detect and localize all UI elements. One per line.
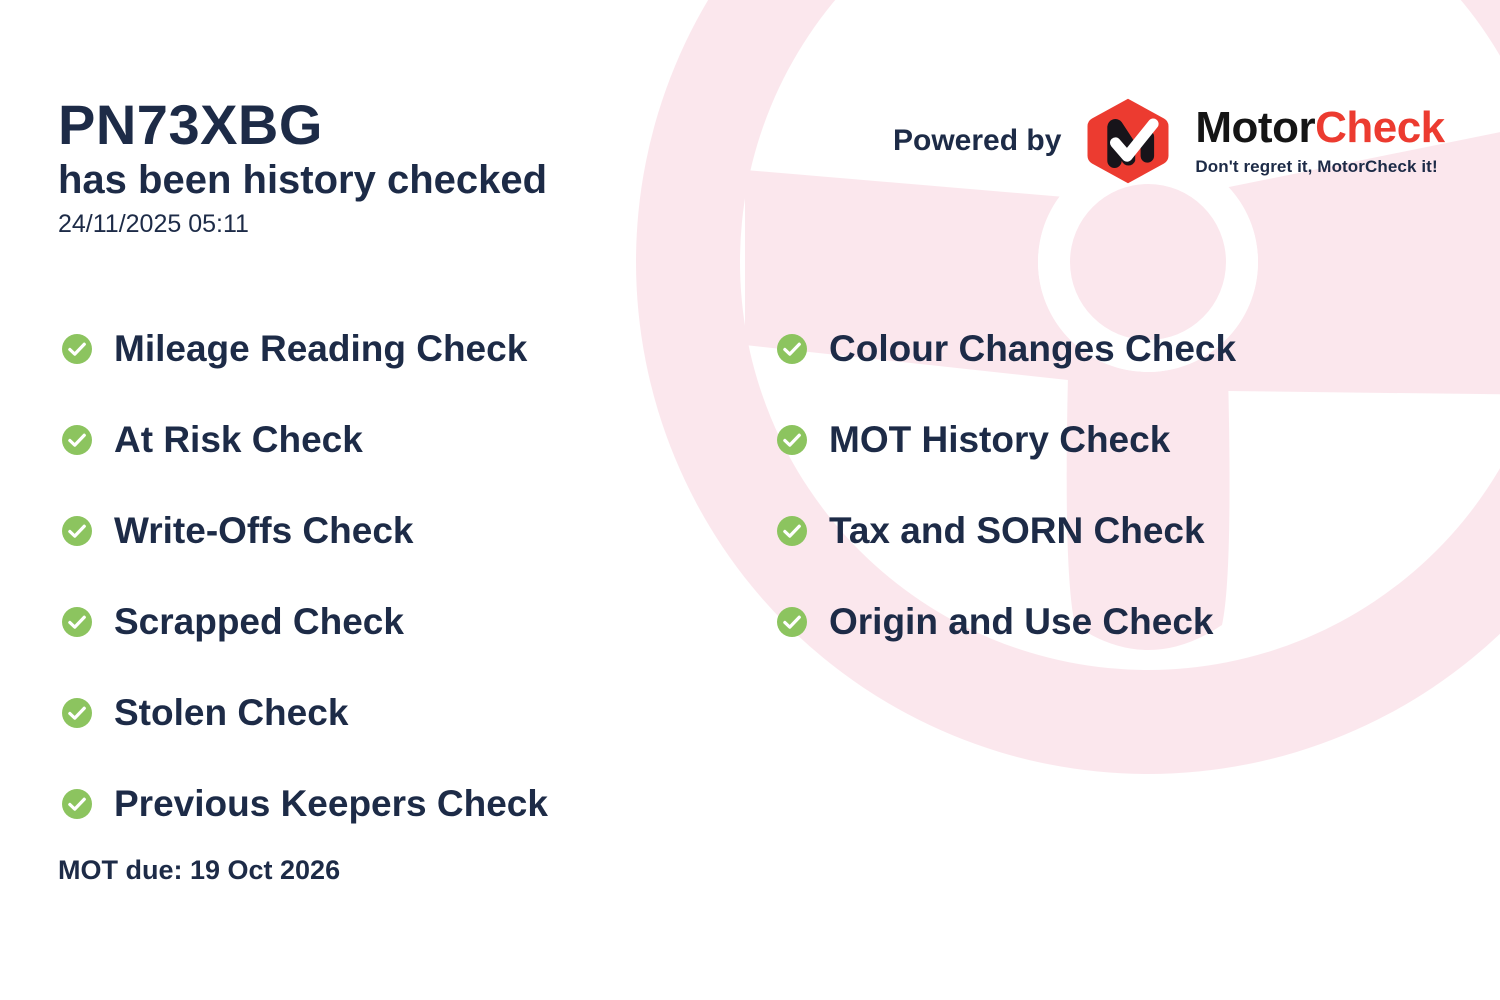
check-label: Mileage Reading Check	[114, 330, 527, 367]
check-list-item: Mileage Reading Check	[62, 303, 548, 394]
check-list-item: Tax and SORN Check	[777, 485, 1236, 576]
powered-by-motorcheck-lockup: Powered by MotorCheck Don't regret it, M…	[893, 96, 1445, 186]
green-check-circle-icon	[62, 789, 92, 819]
check-list-item: At Risk Check	[62, 394, 548, 485]
green-check-circle-icon	[62, 516, 92, 546]
check-label: Colour Changes Check	[829, 330, 1236, 367]
check-list-item: Colour Changes Check	[777, 303, 1236, 394]
green-check-circle-icon	[777, 516, 807, 546]
check-label: Tax and SORN Check	[829, 512, 1205, 549]
history-check-summary-card: PN73XBG has been history checked 24/11/2…	[0, 0, 1500, 1000]
motorcheck-hexagon-logo-icon	[1083, 96, 1173, 186]
green-check-circle-icon	[62, 425, 92, 455]
checks-right-column: Colour Changes Check MOT History Check T…	[777, 303, 1236, 667]
motorcheck-wordmark-block: MotorCheck Don't regret it, MotorCheck i…	[1195, 106, 1444, 177]
motorcheck-wordmark: MotorCheck	[1195, 106, 1444, 150]
check-label: Write-Offs Check	[114, 512, 414, 549]
powered-by-label: Powered by	[893, 124, 1061, 158]
check-label: Stolen Check	[114, 694, 348, 731]
brand-tagline: Don't regret it, MotorCheck it!	[1195, 157, 1444, 177]
green-check-circle-icon	[777, 334, 807, 364]
check-list-item: Stolen Check	[62, 667, 548, 758]
green-check-circle-icon	[62, 698, 92, 728]
check-label: MOT History Check	[829, 421, 1170, 458]
green-check-circle-icon	[62, 334, 92, 364]
check-label: At Risk Check	[114, 421, 363, 458]
check-label: Scrapped Check	[114, 603, 404, 640]
mot-due-note: MOT due: 19 Oct 2026	[58, 855, 340, 886]
checks-left-column: Mileage Reading Check At Risk Check Writ…	[62, 303, 548, 849]
vehicle-registration-plate: PN73XBG	[58, 96, 547, 153]
check-list-item: Write-Offs Check	[62, 485, 548, 576]
check-list-item: Scrapped Check	[62, 576, 548, 667]
check-list-item: Previous Keepers Check	[62, 758, 548, 849]
header: PN73XBG has been history checked 24/11/2…	[58, 96, 547, 239]
check-label: Origin and Use Check	[829, 603, 1214, 640]
check-list-item: Origin and Use Check	[777, 576, 1236, 667]
wordmark-motor: Motor	[1195, 103, 1315, 152]
check-label: Previous Keepers Check	[114, 785, 548, 822]
green-check-circle-icon	[777, 607, 807, 637]
green-check-circle-icon	[62, 607, 92, 637]
page-title: has been history checked	[58, 157, 547, 204]
check-list-item: MOT History Check	[777, 394, 1236, 485]
check-timestamp: 24/11/2025 05:11	[58, 210, 547, 239]
wordmark-check: Check	[1315, 103, 1445, 152]
green-check-circle-icon	[777, 425, 807, 455]
